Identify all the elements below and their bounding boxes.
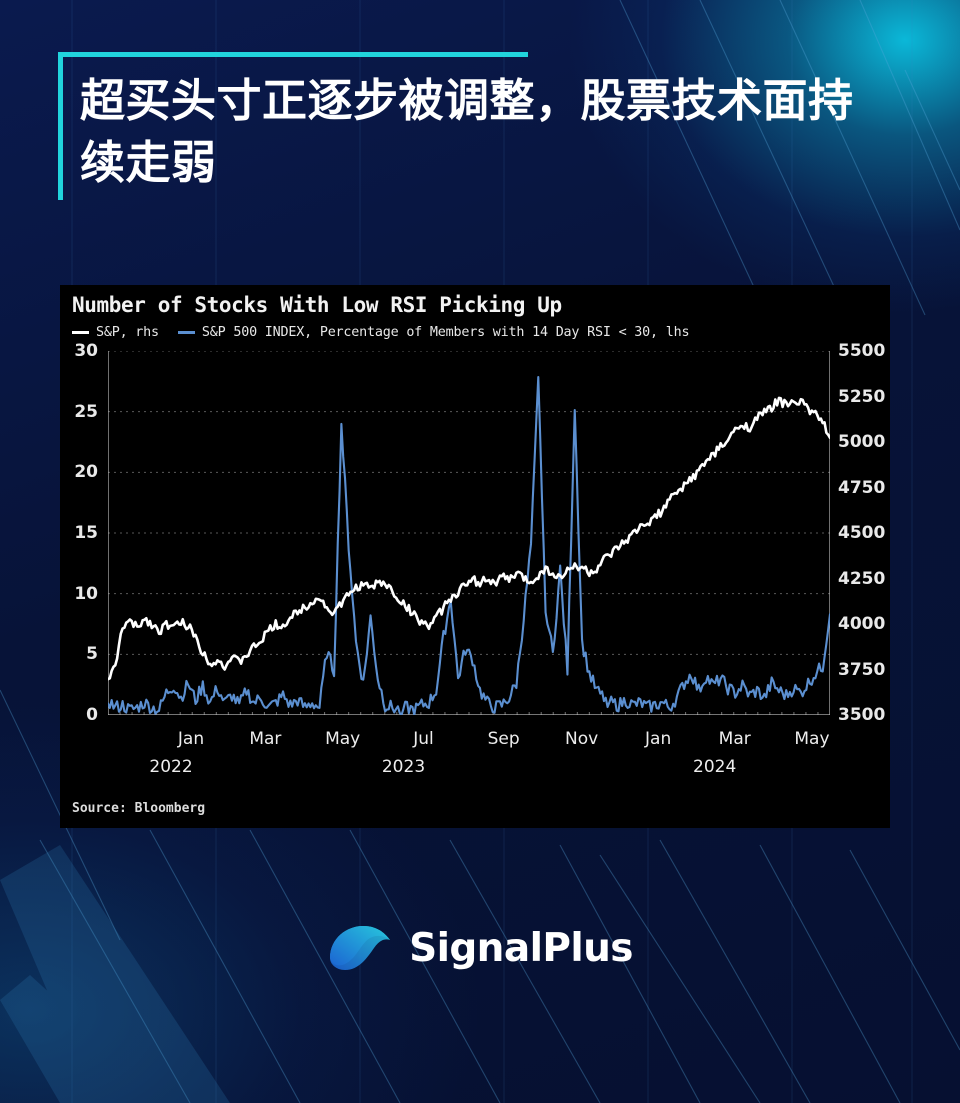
legend-label-sp: S&P, rhs	[96, 325, 159, 340]
y-tick-left-25: 25	[74, 402, 98, 422]
headline-block: 超买头寸正逐步被调整，股票技术面持 续走弱	[58, 52, 904, 193]
chart-panel: Number of Stocks With Low RSI Picking Up…	[60, 285, 890, 828]
x-axis-labels: Jan2022MarMayJul2023SepNovJanMar2024May	[108, 729, 830, 789]
y-tick-left-20: 20	[74, 462, 98, 482]
y-tick-right-5000: 5000	[838, 432, 885, 452]
x-year-2023: 2023	[382, 757, 425, 777]
y-axis-left: 051015202530	[60, 351, 104, 731]
y-tick-right-4000: 4000	[838, 614, 885, 634]
y-axis-right: 350037504000425045004750500052505500	[830, 351, 890, 731]
y-tick-left-30: 30	[74, 341, 98, 361]
x-tick-0: Jan	[178, 729, 204, 749]
legend-swatch-sp	[72, 331, 89, 334]
headline-accent-top	[58, 52, 528, 57]
y-tick-left-0: 0	[86, 705, 98, 725]
y-tick-right-4750: 4750	[838, 478, 885, 498]
y-tick-right-3750: 3750	[838, 660, 885, 680]
chart-title: Number of Stocks With Low RSI Picking Up	[72, 293, 562, 317]
x-tick-4: Sep	[488, 729, 520, 749]
y-tick-right-5250: 5250	[838, 387, 885, 407]
signalplus-wave-mark-icon	[327, 920, 393, 976]
x-year-2022: 2022	[149, 757, 192, 777]
y-tick-left-10: 10	[74, 584, 98, 604]
legend-label-rsi: S&P 500 INDEX, Percentage of Members wit…	[202, 325, 689, 340]
x-tick-3: Jul	[413, 729, 434, 749]
legend-swatch-rsi	[178, 331, 195, 334]
x-year-2024: 2024	[693, 757, 736, 777]
x-tick-5: Nov	[565, 729, 598, 749]
y-tick-right-5500: 5500	[838, 341, 885, 361]
y-tick-right-4500: 4500	[838, 523, 885, 543]
x-tick-1: Mar	[249, 729, 281, 749]
y-tick-left-15: 15	[74, 523, 98, 543]
x-tick-7: Mar	[719, 729, 751, 749]
source-note: Source: Bloomberg	[72, 801, 205, 816]
brand-footer: SignalPlus	[0, 920, 960, 976]
chart-legend: S&P, rhs S&P 500 INDEX, Percentage of Me…	[72, 325, 689, 340]
y-tick-right-4250: 4250	[838, 569, 885, 589]
plot-wrapper: 051015202530 350037504000425045004750500…	[60, 351, 890, 751]
x-tick-8: May	[794, 729, 829, 749]
brand-name: SignalPlus	[409, 926, 633, 971]
y-tick-right-3500: 3500	[838, 705, 885, 725]
x-tick-2: May	[325, 729, 360, 749]
y-tick-left-5: 5	[86, 644, 98, 664]
page-title: 超买头寸正逐步被调整，股票技术面持 续走弱	[58, 52, 904, 193]
x-tick-6: Jan	[645, 729, 671, 749]
headline-accent-left	[58, 52, 63, 200]
plot-area	[108, 351, 830, 715]
